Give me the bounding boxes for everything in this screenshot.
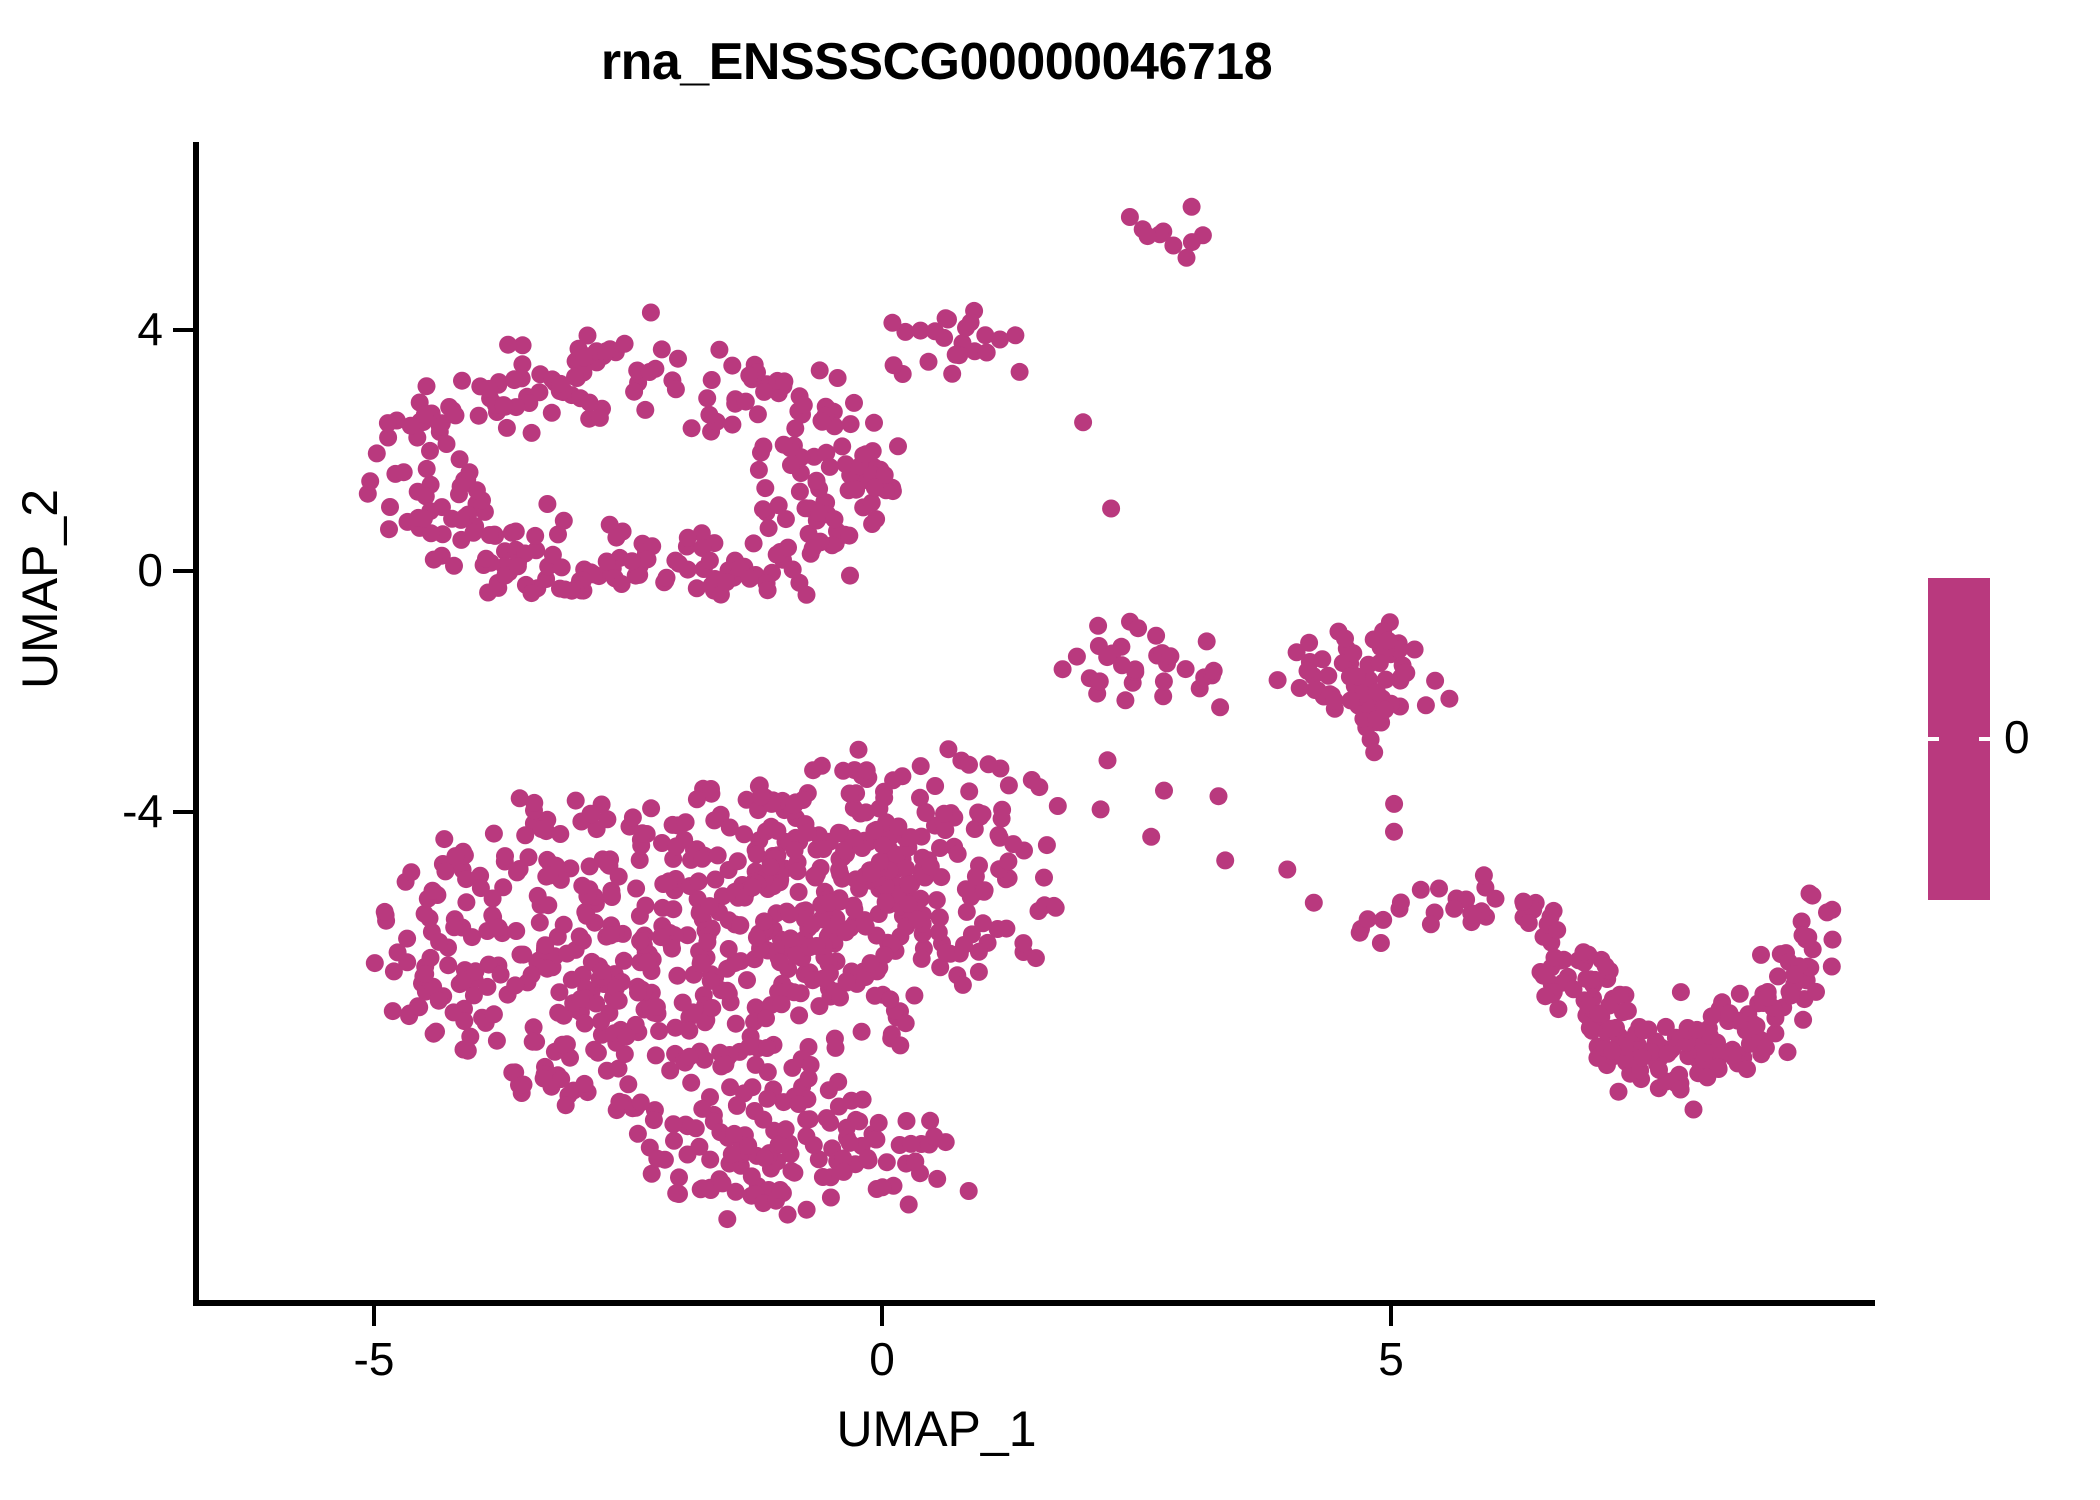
y-tick-label-2: -4 <box>43 784 163 838</box>
x-tick-label-1: 0 <box>822 1332 942 1386</box>
x-tick-mark-1 <box>880 1306 884 1326</box>
y-tick-mark-1 <box>173 569 193 573</box>
x-tick-label-0: -5 <box>314 1332 434 1386</box>
colorbar-tick-left <box>1928 737 1939 741</box>
x-tick-label-2: 5 <box>1331 1332 1451 1386</box>
page-title: rna_ENSSSCG00000046718 <box>0 32 1873 92</box>
x-tick-mark-2 <box>1389 1306 1393 1326</box>
y-tick-mark-0 <box>173 328 193 332</box>
y-tick-mark-2 <box>173 810 193 814</box>
x-axis-label: UMAP_1 <box>0 1400 1873 1458</box>
colorbar-legend[interactable]: 0 <box>1928 578 2088 908</box>
scatter-points-layer <box>193 142 1875 1303</box>
umap-feature-plot: rna_ENSSSCG00000046718 -5 0 5 4 0 -4 UMA… <box>0 0 2100 1500</box>
y-tick-label-0: 4 <box>43 302 163 356</box>
colorbar-tick-label: 0 <box>2004 710 2030 764</box>
y-axis-label: UMAP_2 <box>11 389 69 789</box>
colorbar-tick-right <box>1979 737 1990 741</box>
x-tick-mark-0 <box>372 1306 376 1326</box>
